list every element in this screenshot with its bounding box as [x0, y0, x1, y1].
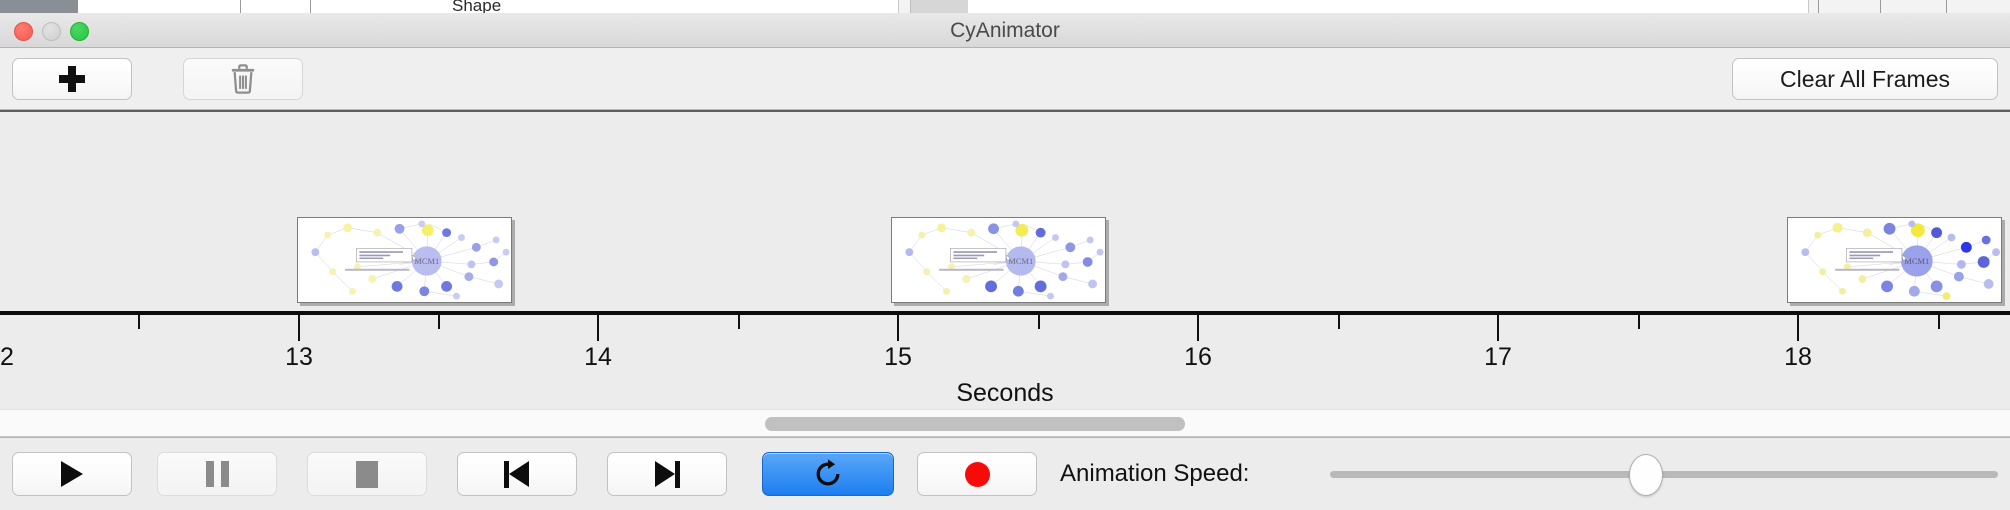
stop-icon [356, 461, 378, 488]
background-window-segment [968, 0, 1809, 14]
background-window-segment [78, 0, 167, 14]
frame-thumbnail[interactable]: MCM1 [1787, 217, 2002, 303]
record-button[interactable] [917, 452, 1037, 496]
ruler-tick-major [597, 315, 599, 341]
loop-button[interactable] [762, 452, 894, 496]
plus-icon [59, 66, 85, 92]
minimize-button[interactable] [42, 22, 61, 41]
ruler-tick-minor [1338, 315, 1340, 329]
transport-bar: Animation Speed: [0, 437, 2010, 510]
skip-forward-icon [654, 461, 680, 488]
animation-speed-label: Animation Speed: [1060, 452, 1249, 496]
background-window: Shape [0, 0, 2010, 14]
timeline-ruler[interactable]: 12 13 14 15 16 17 18 Seconds [0, 311, 2010, 409]
ruler-label: 15 [884, 343, 912, 372]
skip-back-icon [504, 461, 530, 488]
frame-thumbnail[interactable]: MCM1 [297, 217, 512, 303]
ruler-tick-minor [138, 315, 140, 329]
previous-frame-button[interactable] [457, 452, 577, 496]
ruler-tick-minor [1638, 315, 1640, 329]
loop-icon [813, 459, 843, 489]
traffic-lights [14, 22, 89, 41]
network-graph-preview: MCM1 [298, 218, 511, 302]
ruler-tick-major [1797, 315, 1799, 341]
background-window-segment [288, 0, 399, 14]
next-frame-button[interactable] [607, 452, 727, 496]
toolbar: Clear All Frames [0, 48, 2010, 110]
slider-track[interactable] [1330, 471, 1998, 478]
ruler-tick-minor [438, 315, 440, 329]
pause-icon [206, 461, 229, 487]
add-frame-button[interactable] [12, 58, 132, 100]
svg-text:MCM1: MCM1 [414, 257, 439, 266]
ruler-tick-minor [1038, 315, 1040, 329]
ruler-tick-major [298, 315, 300, 341]
stop-button[interactable] [307, 452, 427, 496]
ruler-label: 12 [0, 343, 14, 372]
window-title: CyAnimator [0, 13, 2010, 48]
slider-thumb[interactable] [1629, 454, 1663, 496]
svg-text:MCM1: MCM1 [1904, 257, 1929, 266]
ruler-baseline [0, 311, 2010, 315]
title-bar: CyAnimator [0, 13, 2010, 48]
ruler-tick-major [1497, 315, 1499, 341]
background-window-segment [910, 0, 970, 14]
background-window-tick [1818, 0, 1819, 14]
ruler-tick-minor [738, 315, 740, 329]
record-icon [965, 462, 990, 487]
ruler-label: 16 [1184, 343, 1212, 372]
background-window-segment [166, 0, 227, 14]
close-button[interactable] [14, 22, 33, 41]
cyanimator-window: Shape CyAnimator Clear All Frames [0, 0, 2010, 510]
ruler-tick-minor [1938, 315, 1940, 329]
background-window-label: Shape [452, 0, 501, 14]
delete-frame-button[interactable] [183, 58, 303, 100]
background-window-sidebar [0, 0, 78, 14]
ruler-label: 18 [1784, 343, 1812, 372]
ruler-label: 17 [1484, 343, 1512, 372]
ruler-label: 14 [584, 343, 612, 372]
ruler-label: 13 [285, 343, 313, 372]
scrollbar-thumb[interactable] [765, 417, 1185, 431]
background-window-segment [226, 0, 289, 14]
network-graph-preview: MCM1 [1788, 218, 2001, 302]
trash-icon [230, 64, 256, 94]
background-window-tick [1880, 0, 1881, 14]
background-window-tick [310, 0, 311, 14]
ruler-axis-label: Seconds [0, 379, 2010, 408]
ruler-tick-major [1197, 315, 1199, 341]
background-window-tick [1946, 0, 1947, 14]
maximize-button[interactable] [70, 22, 89, 41]
timeline-panel[interactable]: MCM1 [0, 110, 2010, 313]
horizontal-scrollbar[interactable] [0, 409, 2010, 437]
background-window-tick [240, 0, 241, 14]
network-graph-preview: MCM1 [892, 218, 1105, 302]
frame-thumbnail[interactable]: MCM1 [891, 217, 1106, 303]
play-icon [61, 461, 83, 487]
pause-button[interactable] [157, 452, 277, 496]
animation-speed-slider[interactable] [1330, 452, 1998, 496]
ruler-tick-major [897, 315, 899, 341]
svg-text:MCM1: MCM1 [1008, 257, 1033, 266]
play-button[interactable] [12, 452, 132, 496]
clear-all-frames-button[interactable]: Clear All Frames [1732, 58, 1998, 100]
